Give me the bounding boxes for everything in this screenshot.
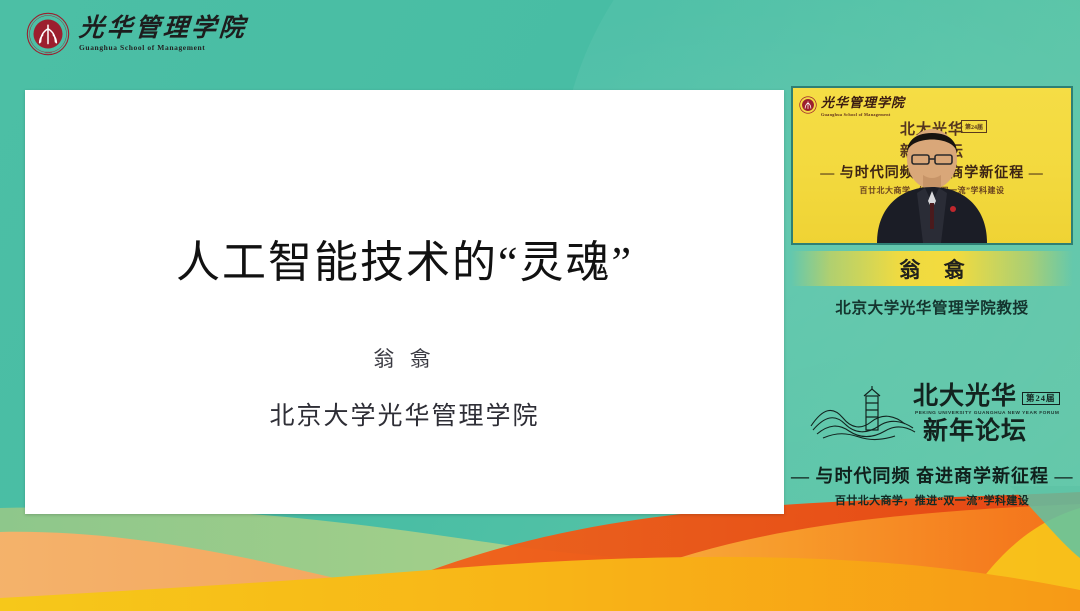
forum-subtagline: 百廿北大商学，推进“双一流”学科建设 [791, 492, 1073, 508]
speaker-video-feed[interactable]: 光华管理学院 Guanghua School of Management 北大光… [791, 86, 1073, 245]
mountain-wave-pagoda-icon [809, 386, 919, 448]
slide-author-name: 翁 翕 [25, 343, 784, 373]
forum-branding-lockup: 北大光华第24届 PEKING UNIVERSITY GUANGHUA NEW … [791, 380, 1073, 515]
speaker-name-banner: 翁 翕 [791, 251, 1073, 286]
video-pku-seal-icon [799, 96, 817, 114]
video-logo-chinese: 光华管理学院 [821, 92, 905, 111]
slide-title: 人工智能技术的“灵魂” [25, 226, 784, 290]
broadcast-screen: 1898 光华管理学院 Guanghua School of Managemen… [0, 0, 1080, 611]
forum-name-english: PEKING UNIVERSITY GUANGHUA NEW YEAR FORU… [915, 411, 1060, 416]
video-guanghua-logo: 光华管理学院 Guanghua School of Management [799, 92, 905, 117]
forum-name-line2: 新年论坛 [923, 419, 1060, 444]
slide-author-affiliation: 北京大学光华管理学院 [25, 396, 784, 432]
header-logo-english: Guanghua School of Management [79, 44, 247, 52]
presentation-slide[interactable]: 人工智能技术的“灵魂” 翁 翕 北京大学光华管理学院 [25, 90, 784, 514]
forum-name-line1-row: 北大光华第24届 [913, 384, 1060, 409]
speaker-name: 翁 翕 [890, 254, 973, 284]
forum-edition-badge: 第24届 [1022, 392, 1060, 405]
speaker-title: 北京大学光华管理学院教授 [791, 296, 1073, 318]
svg-text:1898: 1898 [44, 50, 52, 54]
guanghua-header-logo: 1898 光华管理学院 Guanghua School of Managemen… [26, 12, 247, 56]
header-logo-chinese: 光华管理学院 [78, 16, 248, 41]
video-logo-english: Guanghua School of Management [821, 112, 905, 117]
pku-seal-icon: 1898 [26, 12, 70, 56]
forum-name-line1: 北大光华 [913, 383, 1017, 410]
forum-wordmark: 北大光华第24届 PEKING UNIVERSITY GUANGHUA NEW … [913, 384, 1060, 444]
speaker-portrait [857, 125, 1007, 243]
forum-tagline: — 与时代同频 奋进商学新征程 — [791, 462, 1073, 488]
